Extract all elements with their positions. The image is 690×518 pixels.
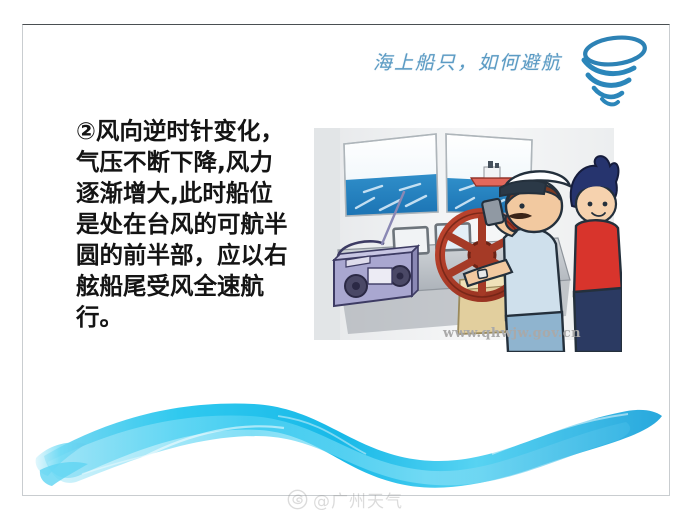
typhoon-spiral-icon [570, 30, 660, 112]
wave-decoration [22, 382, 670, 494]
boy-figure [571, 156, 622, 352]
page-title: 海上船只，如何避航 [360, 48, 575, 75]
bridge-window-left [344, 134, 438, 216]
slide-header: 海上船只，如何避航 [22, 26, 670, 106]
weibo-watermark: @广州天气 [0, 484, 690, 514]
weibo-handle-label: @广州天气 [313, 487, 403, 512]
illustration-ship-bridge [308, 120, 622, 352]
slide-body-text: ②风向逆时针变化，气压不断下降,风力逐渐增大,此时船位是处在台风的可航半圆的前半… [76, 116, 294, 333]
source-watermark: www.qhwjw.gov.cn [443, 326, 581, 341]
weibo-logo-icon [287, 489, 308, 510]
slide-canvas: 海上船只，如何避航 ②风向逆时针变化，气压不断下降,风力逐渐增大,此时船位是处在… [0, 0, 690, 518]
